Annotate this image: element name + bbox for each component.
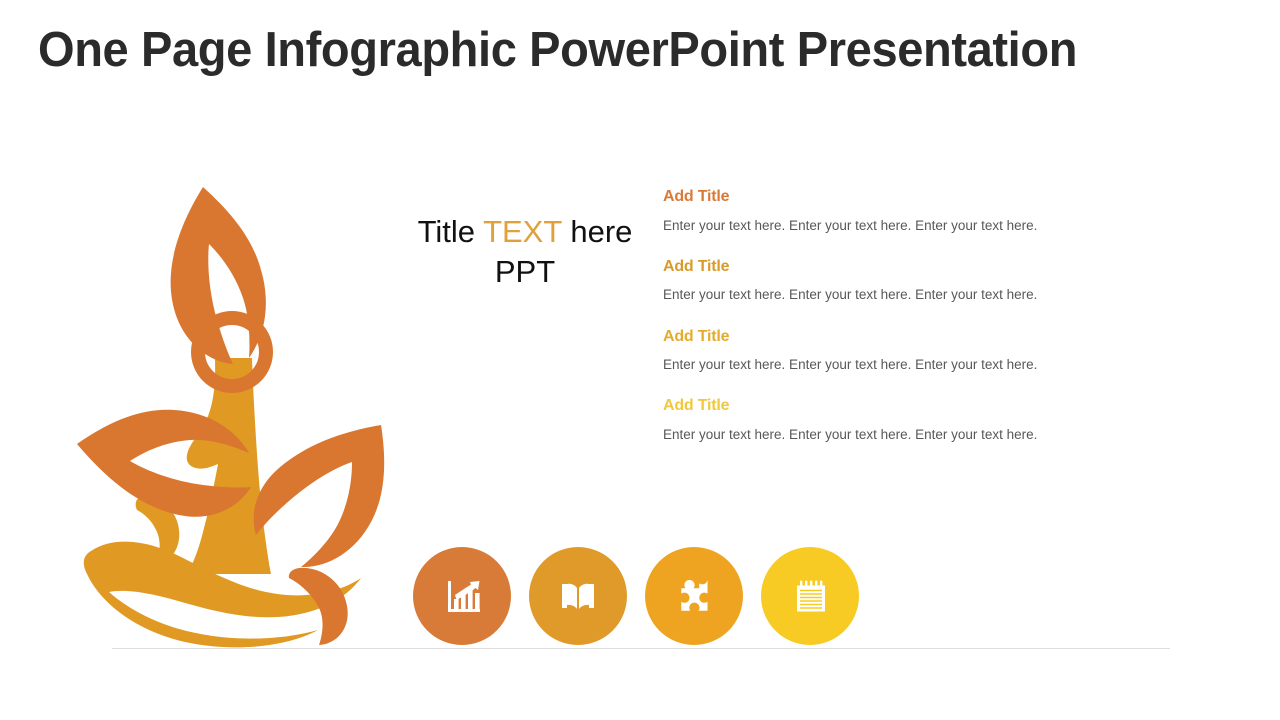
- side-title-accent: TEXT: [483, 214, 562, 249]
- open-book-icon: [556, 574, 600, 618]
- windmill-blade-right: [254, 425, 385, 567]
- windmill-svg: [75, 168, 395, 648]
- item-title: Add Title: [663, 397, 1163, 415]
- list-item: Add Title Enter your text here. Enter yo…: [663, 397, 1163, 444]
- slide-canvas: One Page Infographic PowerPoint Presenta…: [0, 0, 1280, 720]
- windmill-illustration: [75, 168, 395, 648]
- page-title: One Page Infographic PowerPoint Presenta…: [38, 22, 1077, 78]
- windmill-blade-top: [171, 187, 266, 364]
- bottom-divider: [112, 648, 1170, 649]
- item-title: Add Title: [663, 328, 1163, 346]
- side-title-part1: Title: [418, 214, 483, 249]
- icon-circle-puzzle[interactable]: [645, 547, 743, 645]
- icon-circle-notepad[interactable]: [761, 547, 859, 645]
- text-list: Add Title Enter your text here. Enter yo…: [663, 188, 1163, 444]
- list-item: Add Title Enter your text here. Enter yo…: [663, 328, 1163, 375]
- bar-chart-growth-icon: [440, 574, 484, 618]
- icon-circle-book[interactable]: [529, 547, 627, 645]
- item-title: Add Title: [663, 188, 1163, 206]
- item-body: Enter your text here. Enter your text he…: [663, 426, 1163, 444]
- item-title: Add Title: [663, 258, 1163, 276]
- item-body: Enter your text here. Enter your text he…: [663, 286, 1163, 304]
- item-body: Enter your text here. Enter your text he…: [663, 356, 1163, 374]
- item-body: Enter your text here. Enter your text he…: [663, 217, 1163, 235]
- notepad-icon: [788, 574, 832, 618]
- icon-row: [413, 547, 859, 645]
- puzzle-piece-icon: [672, 574, 716, 618]
- side-title: Title TEXT here PPT: [410, 212, 640, 291]
- list-item: Add Title Enter your text here. Enter yo…: [663, 188, 1163, 235]
- list-item: Add Title Enter your text here. Enter yo…: [663, 258, 1163, 305]
- icon-circle-bar-chart[interactable]: [413, 547, 511, 645]
